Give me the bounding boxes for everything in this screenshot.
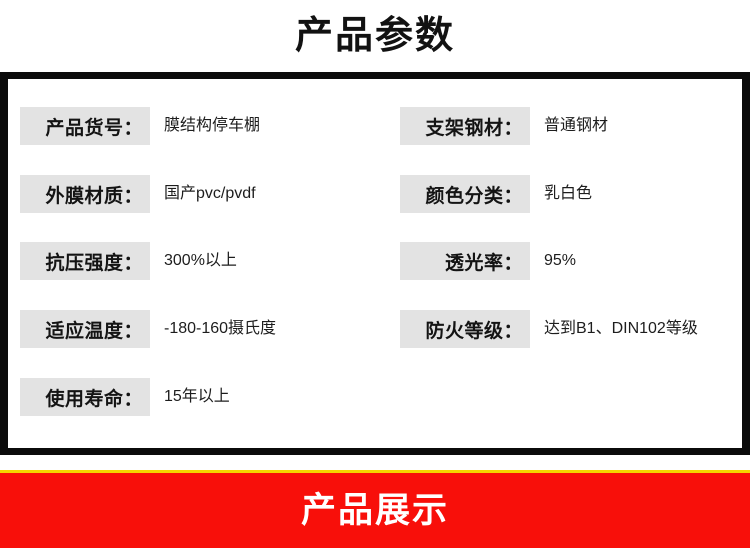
- spec-label-color-category: 颜色分类：: [400, 175, 530, 213]
- spec-row: 抗压强度： 300%以上: [20, 242, 237, 280]
- spec-row: 透光率： 95%: [400, 242, 576, 280]
- spec-label-fire-rating: 防火等级：: [400, 310, 530, 348]
- spec-row: 防火等级： 达到B1、DIN102等级: [400, 310, 698, 348]
- spec-value-color-category: 乳白色: [544, 186, 592, 202]
- spec-value-light-transmittance: 95%: [544, 253, 576, 269]
- spec-label-frame-steel: 支架钢材：: [400, 107, 530, 145]
- page-title: 产品参数: [295, 17, 455, 55]
- spec-label-membrane-material: 外膜材质：: [20, 175, 150, 213]
- banner-title: 产品展示: [301, 493, 449, 528]
- spec-value-compressive-strength: 300%以上: [164, 253, 237, 269]
- spec-label-temperature-range: 适应温度：: [20, 310, 150, 348]
- spec-value-frame-steel: 普通钢材: [544, 118, 608, 134]
- product-parameters-page: 产品参数 产品货号： 膜结构停车棚 外膜材质： 国产pvc/pvdf 抗压强度：…: [0, 0, 750, 548]
- spec-value-service-life: 15年以上: [164, 389, 230, 405]
- spec-label-product-code: 产品货号：: [20, 107, 150, 145]
- spec-row: 颜色分类： 乳白色: [400, 175, 592, 213]
- product-showcase-banner: 产品展示: [0, 473, 750, 548]
- spec-label-light-transmittance: 透光率：: [400, 242, 530, 280]
- spec-grid: 产品货号： 膜结构停车棚 外膜材质： 国产pvc/pvdf 抗压强度： 300%…: [8, 79, 742, 448]
- spec-value-temperature-range: -180-160摄氏度: [164, 321, 276, 337]
- spec-label-service-life: 使用寿命：: [20, 378, 150, 416]
- spec-row: 支架钢材： 普通钢材: [400, 107, 608, 145]
- banner-spacer: [0, 455, 750, 470]
- spec-table: 产品货号： 膜结构停车棚 外膜材质： 国产pvc/pvdf 抗压强度： 300%…: [8, 79, 742, 448]
- spec-row: 使用寿命： 15年以上: [20, 378, 230, 416]
- spec-row: 外膜材质： 国产pvc/pvdf: [20, 175, 256, 213]
- spec-value-fire-rating: 达到B1、DIN102等级: [544, 321, 698, 337]
- spec-row: 适应温度： -180-160摄氏度: [20, 310, 276, 348]
- spec-row: 产品货号： 膜结构停车棚: [20, 107, 260, 145]
- spec-label-compressive-strength: 抗压强度：: [20, 242, 150, 280]
- spec-table-frame: 产品货号： 膜结构停车棚 外膜材质： 国产pvc/pvdf 抗压强度： 300%…: [0, 72, 750, 455]
- page-title-bar: 产品参数: [0, 0, 750, 72]
- spec-value-product-code: 膜结构停车棚: [164, 118, 260, 134]
- spec-value-membrane-material: 国产pvc/pvdf: [164, 186, 256, 202]
